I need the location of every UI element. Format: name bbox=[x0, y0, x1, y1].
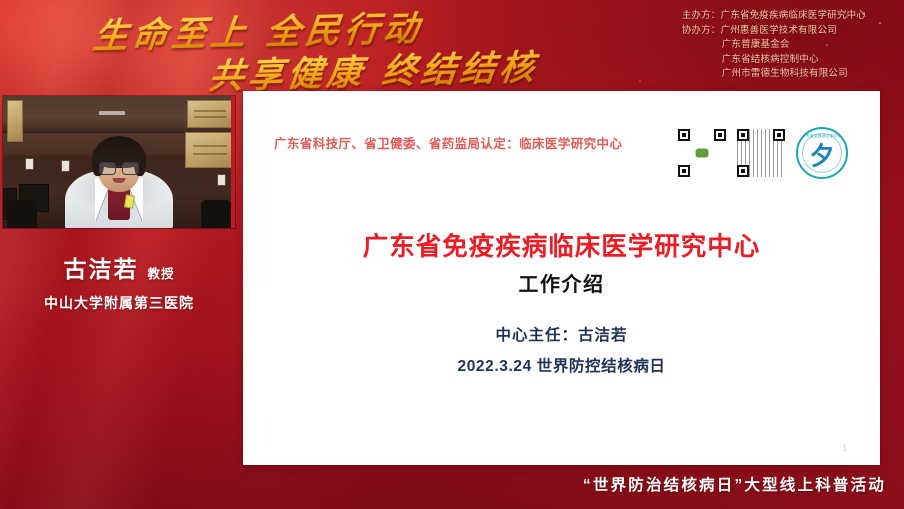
slide-title: 广东省免疫疾病临床医学研究中心 bbox=[243, 226, 880, 263]
video-wall-plaque bbox=[7, 100, 23, 142]
speaker-panel: 古洁若 教授 中山大学附属第三医院 bbox=[3, 96, 235, 313]
organizer-line: 广东省结核病控制中心 bbox=[682, 53, 866, 68]
speaker-name-row: 古洁若 教授 bbox=[3, 250, 235, 284]
video-wall-strip bbox=[99, 111, 125, 115]
video-chair-left bbox=[7, 200, 37, 228]
center-logo-arc-text: 广东省结核病控制中心 bbox=[798, 134, 846, 139]
speaker-title: 教授 bbox=[147, 263, 174, 284]
slide-date-line: 2022.3.24 世界防控结核病日 bbox=[243, 354, 880, 376]
qr-code-icon[interactable] bbox=[737, 129, 785, 177]
video-edge-accent bbox=[231, 96, 235, 228]
video-chair-right bbox=[201, 200, 231, 228]
event-footer-title: “世界防治结核病日”大型线上科普活动 bbox=[583, 473, 886, 495]
speaker-caption: 古洁若 教授 中山大学附属第三医院 bbox=[3, 250, 235, 313]
slide-accreditation-line: 广东省科技厅、省卫健委、省药监局认定：临床医学研究中心 bbox=[274, 133, 622, 152]
video-wall-switch bbox=[25, 158, 34, 170]
organizer-line: 广州市雷德生物科技有限公司 bbox=[682, 67, 866, 82]
speaker-video-feed[interactable] bbox=[3, 96, 235, 228]
speaker-affiliation: 中山大学附属第三医院 bbox=[3, 293, 235, 313]
slide-qr-logo-group: 广东省结核病控制中心 夕 bbox=[678, 127, 848, 179]
banner-slogan: 生命至上 全民行动 共享健康 终结结核 bbox=[70, 2, 570, 90]
organizer-line: 协办方：广州惠善医学技术有限公司 bbox=[682, 24, 866, 39]
broadcast-screen: 生命至上 全民行动 共享健康 终结结核 主办方：广东省免疫疾病临床医学研究中心 … bbox=[0, 0, 904, 509]
slide-page-number: 1 bbox=[842, 443, 847, 453]
video-wall-switch bbox=[217, 174, 226, 186]
center-logo-glyph: 夕 bbox=[809, 144, 834, 169]
organizer-line: 广东普康基金会 bbox=[682, 38, 866, 53]
slide-subtitle: 工作介绍 bbox=[243, 268, 880, 297]
presentation-slide[interactable]: 广东省科技厅、省卫健委、省药监局认定：临床医学研究中心 广东省结核病控制中心 夕… bbox=[243, 91, 880, 465]
video-wall-plaque bbox=[185, 132, 235, 168]
slide-director-line: 中心主任：古洁若 bbox=[243, 323, 880, 345]
glasses-icon bbox=[99, 162, 139, 173]
speaker-name: 古洁若 bbox=[63, 250, 138, 284]
video-wall-plaque bbox=[187, 100, 233, 128]
speaker-figure bbox=[65, 134, 173, 228]
organizer-credits: 主办方：广东省免疫疾病临床医学研究中心 协办方：广州惠善医学技术有限公司 广东普… bbox=[682, 9, 866, 82]
organizer-line: 主办方：广东省免疫疾病临床医学研究中心 bbox=[682, 9, 866, 24]
qr-code-icon[interactable] bbox=[678, 129, 726, 177]
center-logo-icon: 广东省结核病控制中心 夕 bbox=[796, 127, 848, 179]
